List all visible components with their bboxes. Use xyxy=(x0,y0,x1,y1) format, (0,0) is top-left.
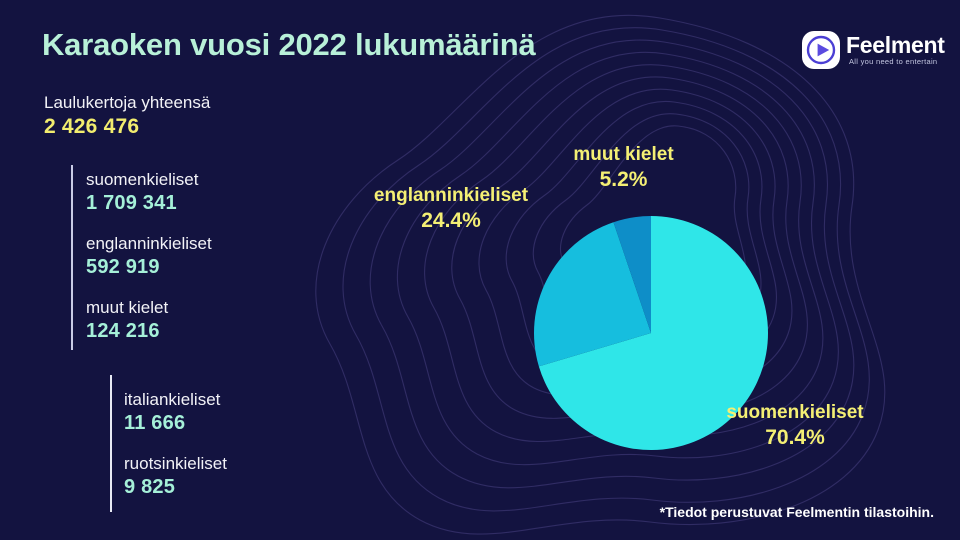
pie-label-pct: 24.4% xyxy=(351,208,551,233)
stat-value: 9 825 xyxy=(124,475,227,500)
indent-rule-level1 xyxy=(71,165,73,350)
list-item: muut kielet 124 216 xyxy=(86,296,212,344)
pie-label-name: muut kielet xyxy=(541,142,706,167)
stat-label: englanninkieliset xyxy=(86,232,212,255)
list-item: italiankieliset 11 666 xyxy=(124,388,227,436)
total-value: 2 426 476 xyxy=(44,114,344,140)
stat-value: 592 919 xyxy=(86,255,212,280)
pie-label-muut-kielet: muut kielet 5.2% xyxy=(541,142,706,192)
pie-label-pct: 70.4% xyxy=(700,425,890,450)
total-label: Laulukertoja yhteensä xyxy=(44,92,344,114)
list-item: englanninkieliset 592 919 xyxy=(86,232,212,280)
stats-group-level2: italiankieliset 11 666 ruotsinkieliset 9… xyxy=(124,388,227,500)
stat-label: italiankieliset xyxy=(124,388,227,411)
stat-label: muut kielet xyxy=(86,296,212,319)
stat-value: 1 709 341 xyxy=(86,191,212,216)
logo-wordmark: Feelment xyxy=(846,32,945,59)
list-item: suomenkieliset 1 709 341 xyxy=(86,168,212,216)
pie-label-name: englanninkieliset xyxy=(351,183,551,208)
pie-label-name: suomenkieliset xyxy=(700,400,890,425)
infographic-canvas: Karaoken vuosi 2022 lukumäärinä Lauluker… xyxy=(0,0,960,540)
stat-value: 11 666 xyxy=(124,411,227,436)
indent-rule-level2 xyxy=(110,375,112,512)
list-item: ruotsinkieliset 9 825 xyxy=(124,452,227,500)
play-icon xyxy=(801,30,841,70)
logo-tagline: All you need to entertain xyxy=(849,57,937,66)
stats-panel: Laulukertoja yhteensä 2 426 476 xyxy=(44,92,344,140)
stat-label: ruotsinkieliset xyxy=(124,452,227,475)
stat-label: suomenkieliset xyxy=(86,168,212,191)
brand-logo: Feelment All you need to entertain xyxy=(801,29,941,73)
stat-value: 124 216 xyxy=(86,319,212,344)
pie-label-suomenkieliset: suomenkieliset 70.4% xyxy=(700,400,890,450)
total-stat: Laulukertoja yhteensä 2 426 476 xyxy=(44,92,344,140)
pie-label-pct: 5.2% xyxy=(541,167,706,192)
pie-label-englanninkieliset: englanninkieliset 24.4% xyxy=(351,183,551,233)
footnote: *Tiedot perustuvat Feelmentin tilastoihi… xyxy=(660,504,934,520)
page-title: Karaoken vuosi 2022 lukumäärinä xyxy=(42,27,535,63)
stats-group-level1: suomenkieliset 1 709 341 englanninkielis… xyxy=(86,168,212,344)
